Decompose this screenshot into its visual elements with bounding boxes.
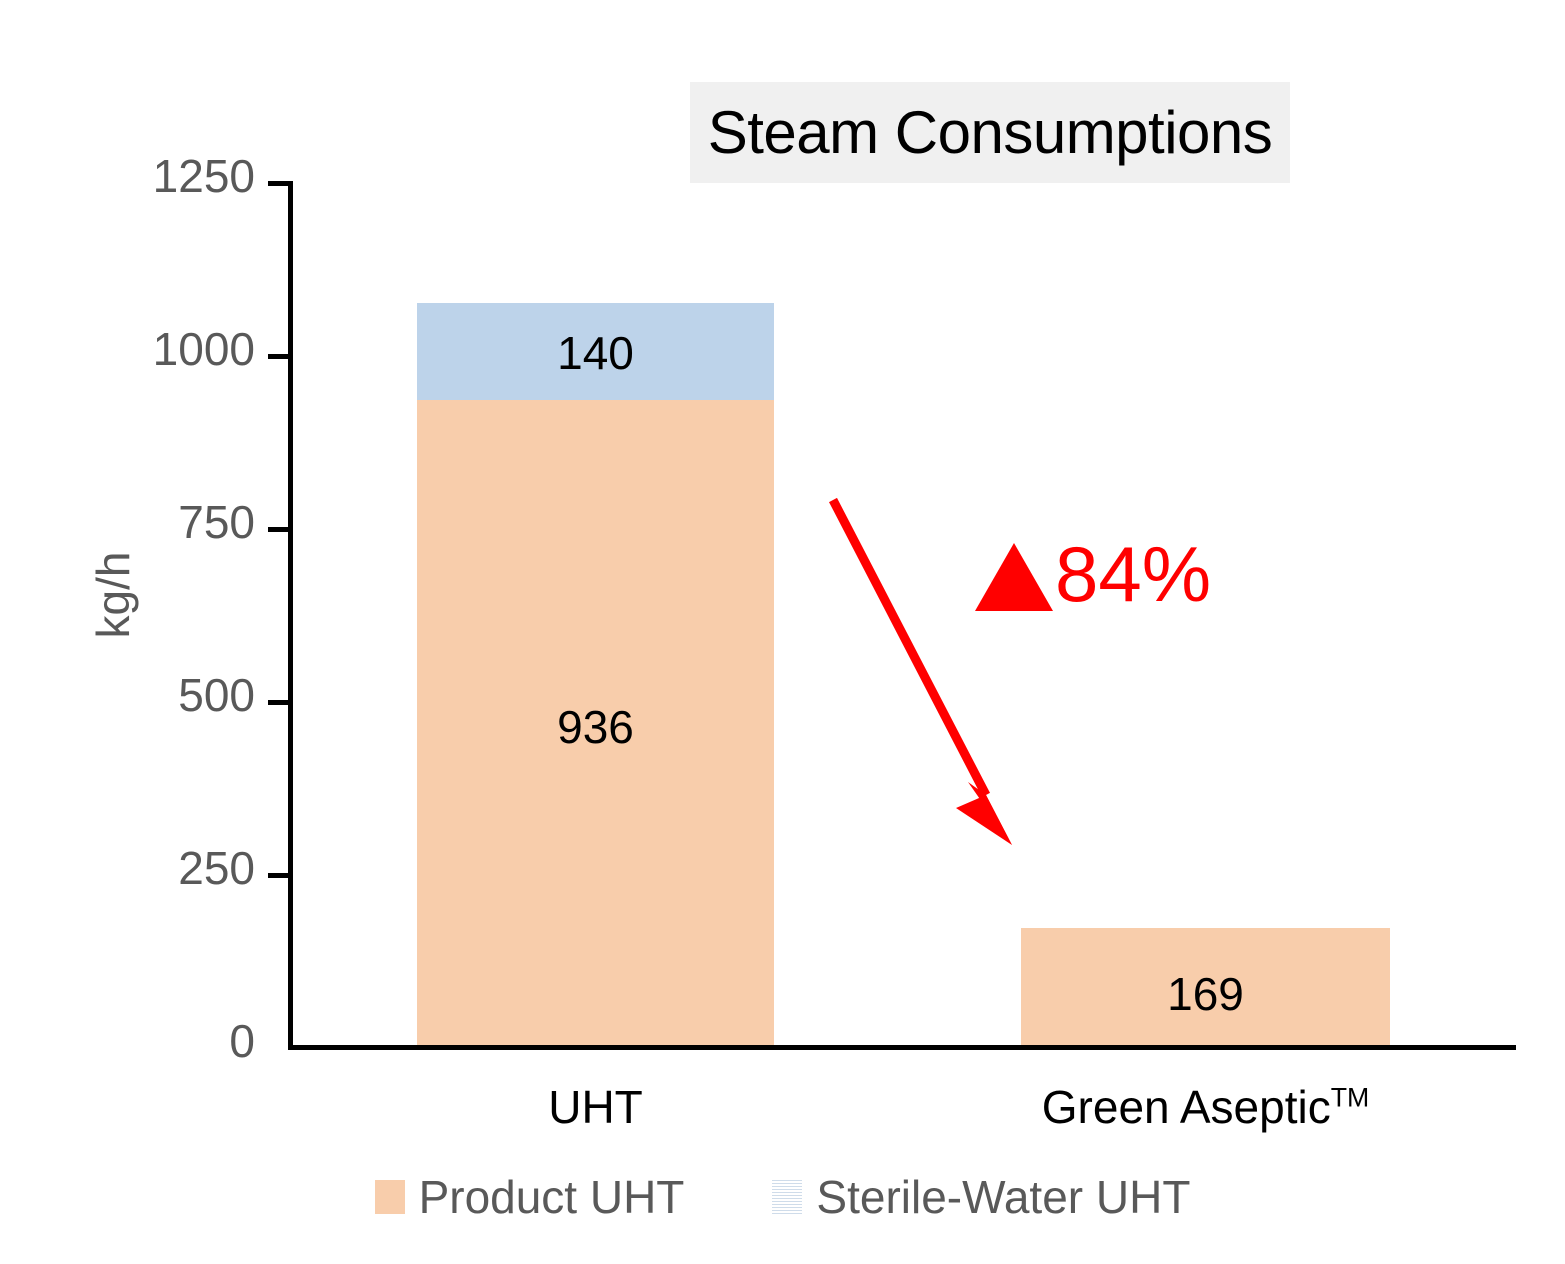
bar-label-green-aseptic-product: 169 xyxy=(1021,967,1390,1021)
bar-label-uht-sterile-water: 140 xyxy=(417,326,774,380)
reduction-percent-text: 84% xyxy=(1055,535,1211,613)
triangle-up-icon xyxy=(975,543,1053,611)
y-tick-mark-500 xyxy=(268,700,290,705)
chart-legend: Product UHT Sterile-Water UHT xyxy=(0,1170,1565,1224)
y-axis-line xyxy=(288,181,293,1050)
y-tick-mark-1250 xyxy=(268,181,290,186)
trademark-superscript: TM xyxy=(1331,1083,1370,1113)
bar-label-uht-product: 936 xyxy=(417,700,774,754)
reduction-arrow-icon xyxy=(790,470,1070,870)
legend-swatch-product-uht xyxy=(375,1180,405,1214)
y-tick-mark-250 xyxy=(268,873,290,878)
x-axis-line xyxy=(288,1045,1516,1050)
y-tick-mark-750 xyxy=(268,527,290,532)
y-axis-title: kg/h xyxy=(86,530,140,660)
legend-label-sterile-water-uht: Sterile-Water UHT xyxy=(816,1170,1190,1224)
legend-label-product-uht: Product UHT xyxy=(419,1170,685,1224)
legend-item-product-uht[interactable]: Product UHT xyxy=(375,1170,685,1224)
reduction-percent-badge: 84% xyxy=(975,535,1211,613)
category-label-uht: UHT xyxy=(417,1080,774,1134)
category-label-green-aseptic: Green AsepticTM xyxy=(1000,1080,1411,1134)
category-label-uht-text: UHT xyxy=(548,1081,643,1133)
category-label-green-aseptic-text: Green Aseptic xyxy=(1042,1081,1331,1133)
legend-swatch-sterile-water-uht xyxy=(772,1180,802,1214)
y-tick-mark-1000 xyxy=(268,354,290,359)
chart-canvas: Steam Consumptions kg/h 1250 1000 750 50… xyxy=(0,0,1565,1264)
chart-title: Steam Consumptions xyxy=(690,82,1290,183)
legend-item-sterile-water-uht[interactable]: Sterile-Water UHT xyxy=(772,1170,1190,1224)
